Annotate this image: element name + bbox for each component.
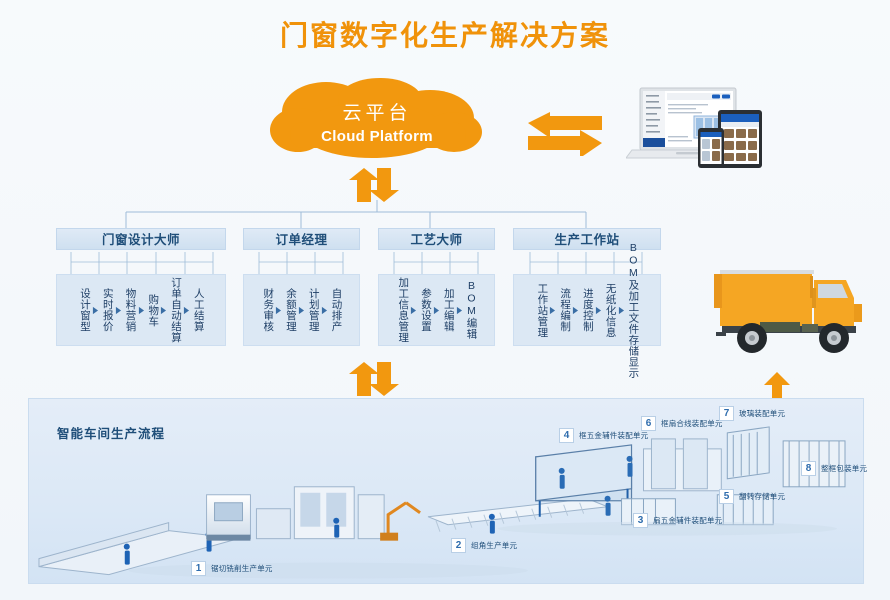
workshop-unit-7[interactable]: 7 玻璃装配单元 [719, 406, 785, 421]
module-item[interactable]: 订单自动结算 [169, 279, 181, 341]
workshop-unit-3[interactable]: 3 扇五金辅件装配单元 [633, 513, 722, 528]
module-item[interactable]: 财务审核 [262, 279, 274, 341]
flow-arrow-icon [570, 279, 581, 341]
module-process-master[interactable]: 工艺大师 加工信息管理 参数设置 加工编辑 BOM编辑 [378, 228, 495, 346]
module-items-production-workstation: 工作站管理 流程编制 进度控制 无纸化信息 BOM及加工文件存储显示 [513, 274, 661, 346]
module-item[interactable]: BOM编辑 [465, 279, 477, 341]
module-items-order-manager: 财务审核 余额管理 计划管理 自动排产 [243, 274, 360, 346]
unit-number: 4 [559, 428, 574, 443]
flow-arrow-icon [616, 279, 627, 341]
tablet-device [718, 110, 762, 168]
workshop-unit-1[interactable]: 1 锯切铣削生产单元 [191, 561, 273, 576]
unit-number: 8 [801, 461, 816, 476]
unit-label: 整框包装单元 [821, 463, 867, 474]
module-item[interactable]: 设计窗型 [78, 279, 90, 341]
module-title-design-master: 门窗设计大师 [56, 228, 226, 250]
unit-number: 5 [719, 489, 734, 504]
flow-arrow-icon [296, 279, 307, 341]
flow-arrow-icon [113, 279, 124, 341]
unit-label: 扇五金辅件装配单元 [653, 515, 722, 526]
unit-label: 玻璃装配单元 [739, 408, 785, 419]
unit-number: 7 [719, 406, 734, 421]
module-production-workstation[interactable]: 生产工作站 工作站管理 流程编制 进度控制 无纸化信息 BOM及加工文件存储显示 [513, 228, 661, 346]
module-row: 门窗设计大师 设计窗型 实时报价 物料营销 购物车 订单自动结算 人工结算 订单… [0, 228, 890, 363]
module-design-master[interactable]: 门窗设计大师 设计窗型 实时报价 物料营销 购物车 订单自动结算 人工结算 [56, 228, 226, 346]
cloud-platform-node: 云平台 Cloud Platform [268, 78, 486, 164]
module-items-design-master: 设计窗型 实时报价 物料营销 购物车 订单自动结算 人工结算 [56, 274, 226, 346]
unit-label: 翻转存储单元 [739, 491, 785, 502]
module-order-manager[interactable]: 订单经理 财务审核 余额管理 计划管理 自动排产 [243, 228, 360, 346]
unit-number: 3 [633, 513, 648, 528]
cloud-updown-arrows [347, 168, 407, 207]
workshop-unit-4[interactable]: 4 框五金辅件装配单元 [559, 428, 648, 443]
unit-number: 2 [451, 538, 466, 553]
module-item[interactable]: 加工信息管理 [397, 279, 409, 341]
workshop-panel: 智能车间生产流程 [28, 398, 864, 584]
workshop-unit-2[interactable]: 2 组角生产单元 [451, 538, 517, 553]
module-item[interactable]: 计划管理 [307, 279, 319, 341]
module-item[interactable]: 进度控制 [581, 279, 593, 341]
module-item[interactable]: 参数设置 [419, 279, 431, 341]
module-item[interactable]: 无纸化信息 [604, 279, 616, 341]
devices-illustration [626, 86, 778, 168]
flow-arrow-icon [158, 279, 169, 341]
page-title: 门窗数字化生产解决方案 [0, 14, 890, 54]
flow-arrow-icon [136, 279, 147, 341]
module-item[interactable]: 实时报价 [101, 279, 113, 341]
module-items-process-master: 加工信息管理 参数设置 加工编辑 BOM编辑 [378, 274, 495, 346]
workshop-unit-8[interactable]: 8 整框包装单元 [801, 461, 867, 476]
module-title-process-master: 工艺大师 [378, 228, 495, 250]
flow-arrow-icon [273, 279, 284, 341]
workshop-unit-5[interactable]: 5 翻转存储单元 [719, 489, 785, 504]
unit-number: 6 [641, 416, 656, 431]
module-item[interactable]: BOM及加工文件存储显示 [627, 279, 639, 341]
unit-label: 框五金辅件装配单元 [579, 430, 648, 441]
flow-arrow-icon [408, 279, 419, 341]
module-item[interactable]: 购物车 [147, 279, 159, 341]
flow-arrow-icon [547, 279, 558, 341]
flow-arrow-icon [181, 279, 192, 341]
module-item[interactable]: 自动排产 [330, 279, 342, 341]
flow-arrow-icon [454, 279, 465, 341]
module-item[interactable]: 余额管理 [284, 279, 296, 341]
phone-device [698, 128, 724, 168]
flow-arrow-icon [90, 279, 101, 341]
module-item[interactable]: 物料营销 [124, 279, 136, 341]
module-item[interactable]: 人工结算 [192, 279, 204, 341]
cloud-icon [268, 78, 486, 164]
mid-updown-arrows [347, 362, 407, 401]
module-title-order-manager: 订单经理 [243, 228, 360, 250]
flow-arrow-icon [431, 279, 442, 341]
cloud-devices-arrows [528, 112, 602, 161]
unit-number: 1 [191, 561, 206, 576]
module-item[interactable]: 流程编制 [558, 279, 570, 341]
unit-label: 锯切铣削生产单元 [211, 563, 273, 574]
module-item[interactable]: 工作站管理 [536, 279, 548, 341]
unit-label: 组角生产单元 [471, 540, 517, 551]
flow-arrow-icon [593, 279, 604, 341]
workshop-unit-6[interactable]: 6 框扇合线装配单元 [641, 416, 723, 431]
solution-diagram-page: 门窗数字化生产解决方案 [0, 0, 890, 600]
unit-label: 框扇合线装配单元 [661, 418, 723, 429]
flow-arrow-icon [319, 279, 330, 341]
module-item[interactable]: 加工编辑 [442, 279, 454, 341]
